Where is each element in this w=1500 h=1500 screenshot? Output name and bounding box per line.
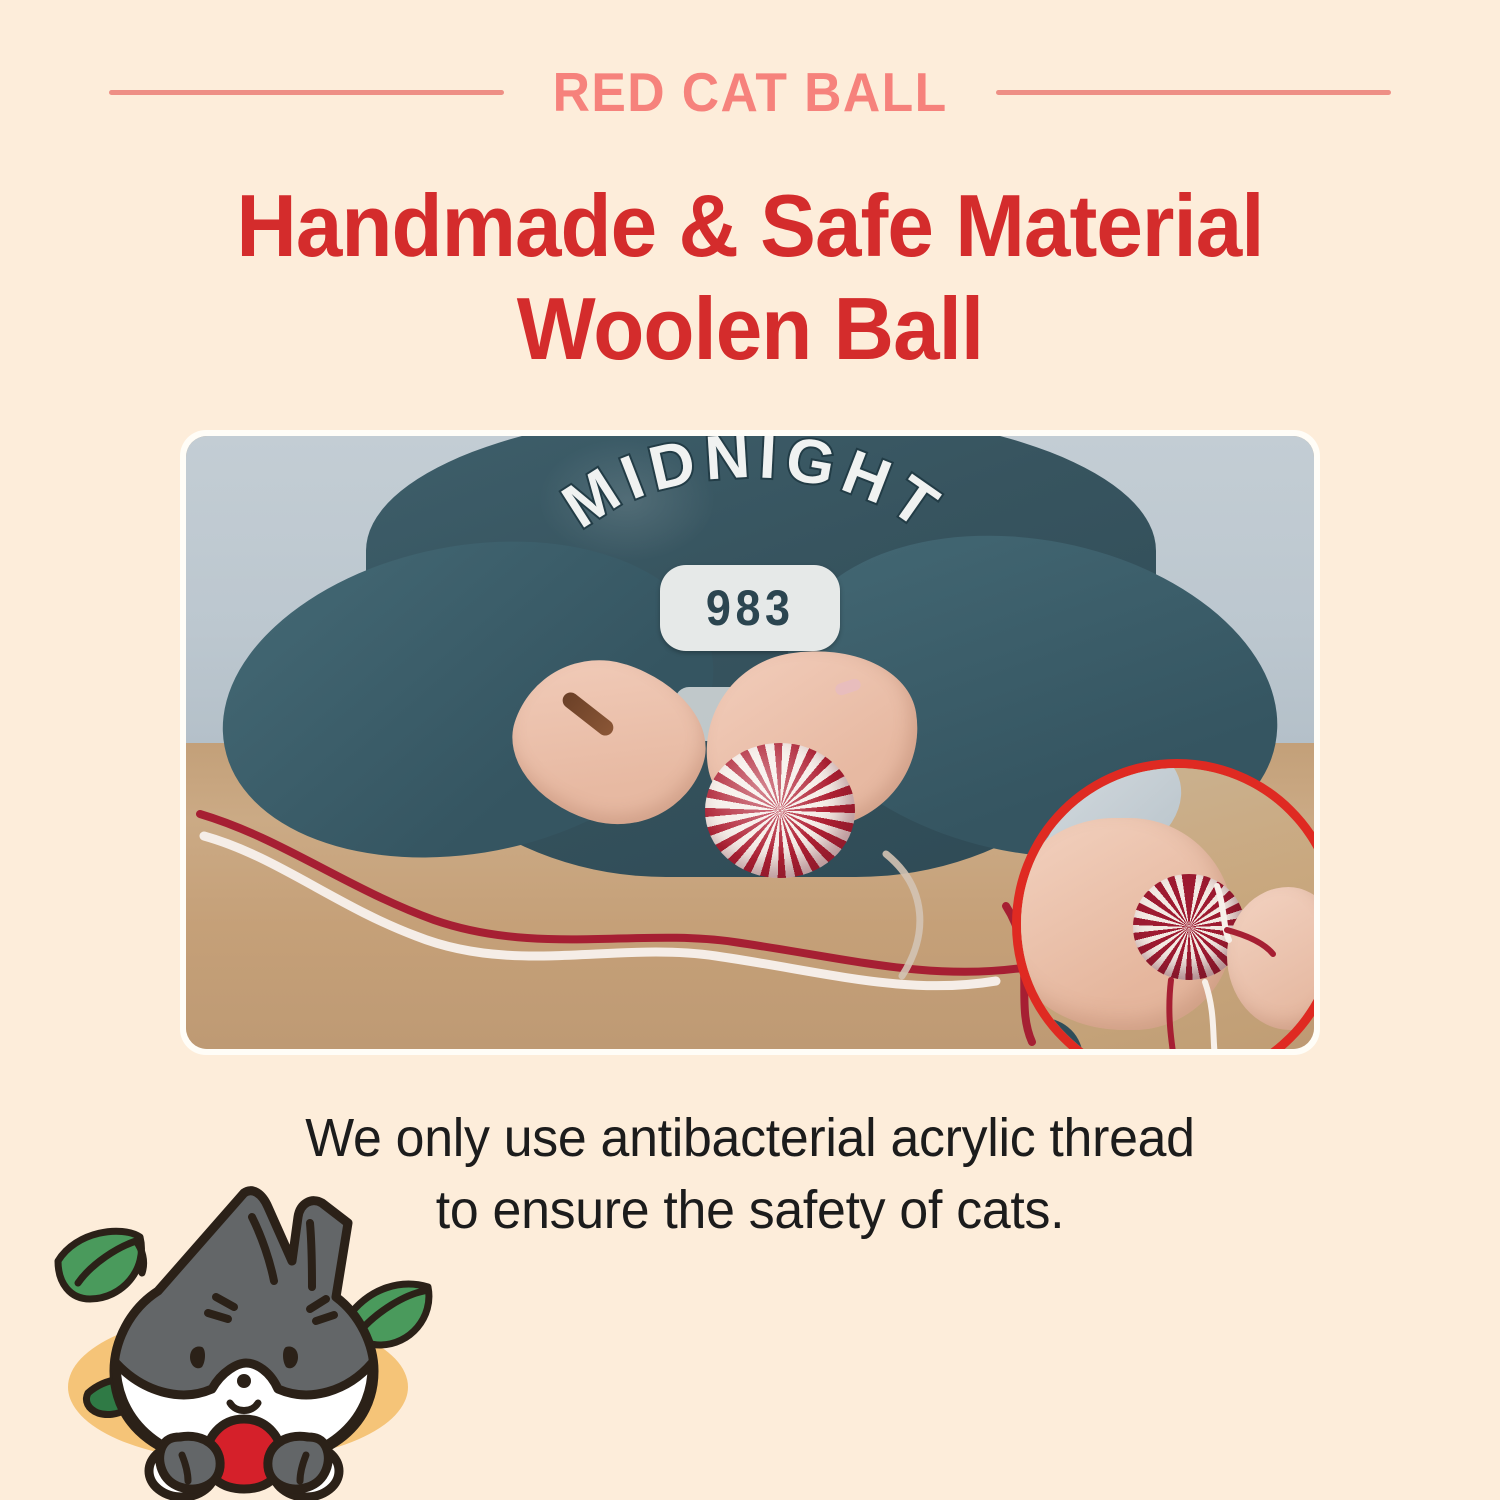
inset-scene bbox=[1021, 768, 1314, 1049]
eyebrow-row: RED CAT BALL bbox=[0, 52, 1500, 132]
crochet-ball-in-progress bbox=[705, 743, 855, 878]
divider-rule-right bbox=[996, 90, 1391, 95]
crochet-demo-photo: MIDNIGHT 983 bbox=[186, 436, 1314, 1049]
finished-ball-closeup bbox=[1012, 759, 1314, 1049]
cat-paw-left bbox=[160, 1436, 220, 1489]
page-title: Handmade & Safe Material Woolen Ball bbox=[0, 175, 1500, 381]
inset-yarn-strands bbox=[1021, 768, 1314, 1049]
headline-line-1: Handmade & Safe Material bbox=[38, 175, 1463, 278]
cat-paw-right bbox=[268, 1436, 328, 1489]
divider-rule-left bbox=[109, 90, 504, 95]
photo-frame: MIDNIGHT 983 bbox=[180, 430, 1320, 1055]
eyebrow-label: RED CAT BALL bbox=[552, 65, 947, 120]
headline-line-2: Woolen Ball bbox=[38, 278, 1463, 381]
cat-ear-fold-right bbox=[310, 1223, 312, 1287]
leaf-upper-left-icon bbox=[58, 1231, 144, 1299]
cat-nose bbox=[237, 1374, 251, 1388]
cat-mascot-illustration bbox=[30, 1165, 460, 1500]
